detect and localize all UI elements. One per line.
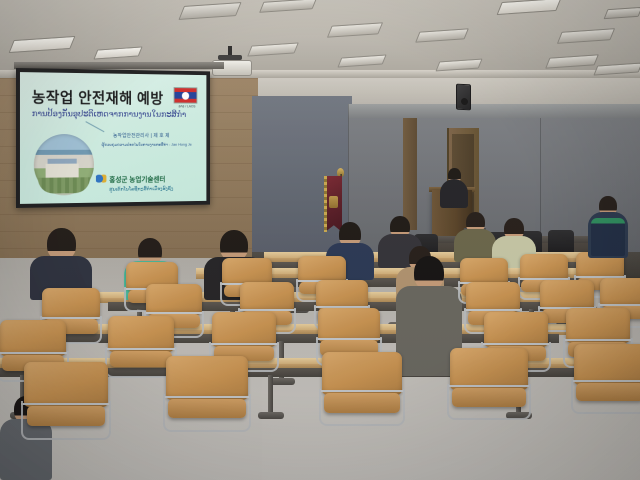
slide-content: 농작업 안전재해 예방 ການປ້ອງກັນອຸປະຕິເຫດຈາກການງານ… [20,72,206,204]
chair-frame [447,384,531,420]
flag-emblem-icon [329,196,338,208]
chair[interactable] [450,348,528,420]
table-leg [268,375,273,415]
door-frame-left [403,118,417,230]
chair-frame [21,401,112,440]
slide-presenter-lao: ຜູ້ຄວບຄຸມຄວາມປອດໄພໃນການງານກະສິກຳ - Jae H… [102,142,192,147]
slide-photo-circle [34,134,94,196]
table-foot [258,412,284,419]
uniform-vest [591,218,625,256]
slide-pointer-line [85,121,104,132]
wall-speaker [456,84,471,111]
slide-organization-lao: ສູນເຕັກໂນໂລຊີກະສິກຳເມືອງຮົງຊັງ [109,186,173,193]
chair-frame [319,389,405,426]
gray-wall-right-upper-band [348,104,640,118]
staff-in-uniform-vest [588,196,628,258]
slide-organization-korean: 홍성군 농업기술센터 [109,175,165,185]
attendee [454,212,496,262]
chair[interactable] [108,316,174,378]
slide-subtitle: ການປ້ອງກັນອຸປະຕິເຫດຈາກການງານໃນກະສິກຳ [32,108,186,120]
chair-frame [163,394,252,432]
projection-screen: 농작업 안전재해 예방 ການປ້ອງກັນອຸປະຕິເຫດຈາກການງານ… [16,68,210,208]
lao-flag-icon [174,87,198,104]
chair-frame [571,379,640,414]
person-torso [440,179,468,208]
slide-title: 농작업 안전재해 예방 [32,86,164,108]
person-head [414,256,444,290]
chair[interactable] [574,344,640,414]
chair[interactable] [322,352,402,426]
chair[interactable] [24,362,108,440]
organization-logo-icon [96,174,106,183]
seminar-room-photo: EPSON 농작업 안전재해 예방 ການປ້ອງກັນອຸປະຕິເຫດຈາກ… [0,0,640,480]
slide-presenter-korean: 농작업안전관리사 | 제 호 제 [113,132,170,139]
presenter-at-podium [440,168,468,208]
flag-caption: ລາວ / LAOS [179,104,196,108]
chair[interactable] [166,356,248,432]
